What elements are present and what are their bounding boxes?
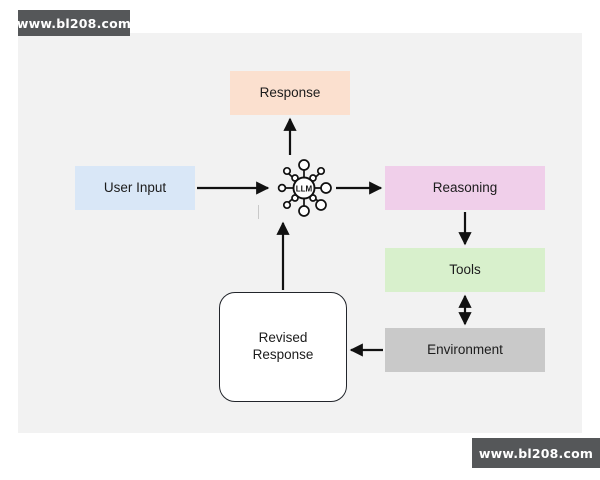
node-tools-label: Tools <box>449 262 481 279</box>
node-user-input-label: User Input <box>104 180 166 197</box>
node-environment[interactable]: Environment <box>385 328 545 372</box>
watermark-bottom-right: www.bl208.com <box>472 438 600 468</box>
node-environment-label: Environment <box>427 342 503 359</box>
node-response-label: Response <box>260 85 321 102</box>
node-reasoning[interactable]: Reasoning <box>385 166 545 210</box>
node-llm[interactable]: LLM <box>273 158 335 218</box>
node-revised-response[interactable]: Revised Response <box>219 292 347 402</box>
node-revised-response-label-line1: Revised <box>259 330 308 347</box>
stray-tick-artifact <box>258 205 259 219</box>
llm-hub-icon: LLM <box>273 158 335 218</box>
watermark-top-left: www.bl208.com <box>18 10 130 36</box>
node-tools[interactable]: Tools <box>385 248 545 292</box>
node-user-input[interactable]: User Input <box>75 166 195 210</box>
llm-hub-label: LLM <box>296 185 313 194</box>
node-response[interactable]: Response <box>230 71 350 115</box>
diagram-canvas: Response User Input Reasoning Tools Envi… <box>18 33 582 433</box>
node-revised-response-label-line2: Response <box>253 347 314 364</box>
node-reasoning-label: Reasoning <box>433 180 498 197</box>
